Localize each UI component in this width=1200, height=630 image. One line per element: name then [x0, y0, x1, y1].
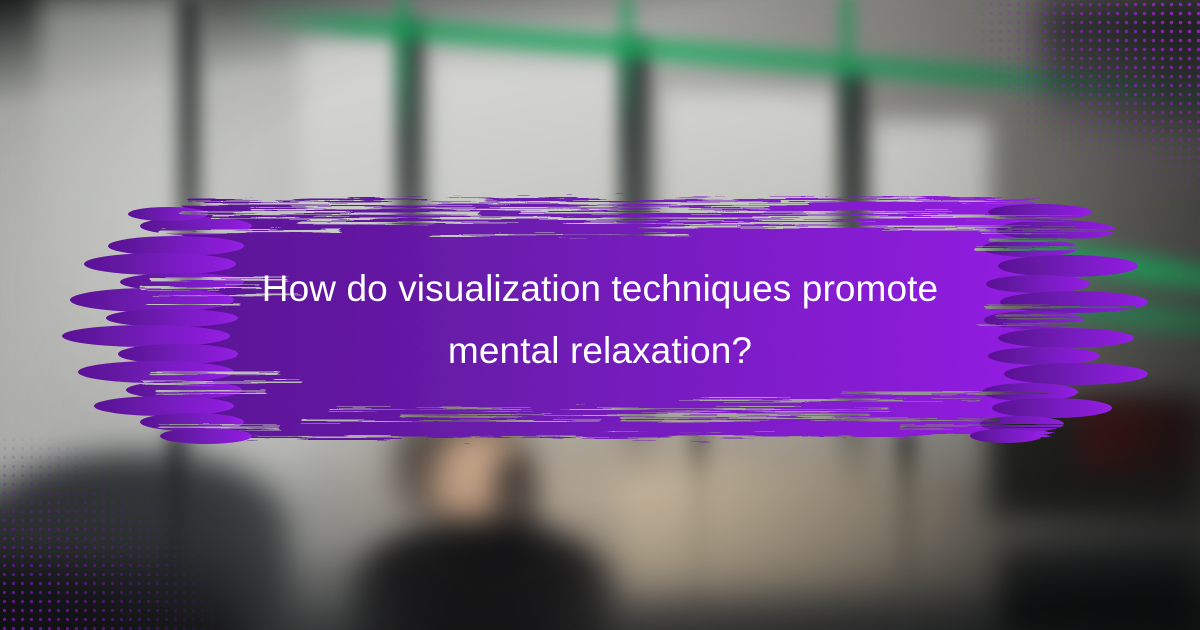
brush-stroke-banner	[0, 186, 1200, 454]
share-card: How do visualization techniques promote …	[0, 0, 1200, 630]
